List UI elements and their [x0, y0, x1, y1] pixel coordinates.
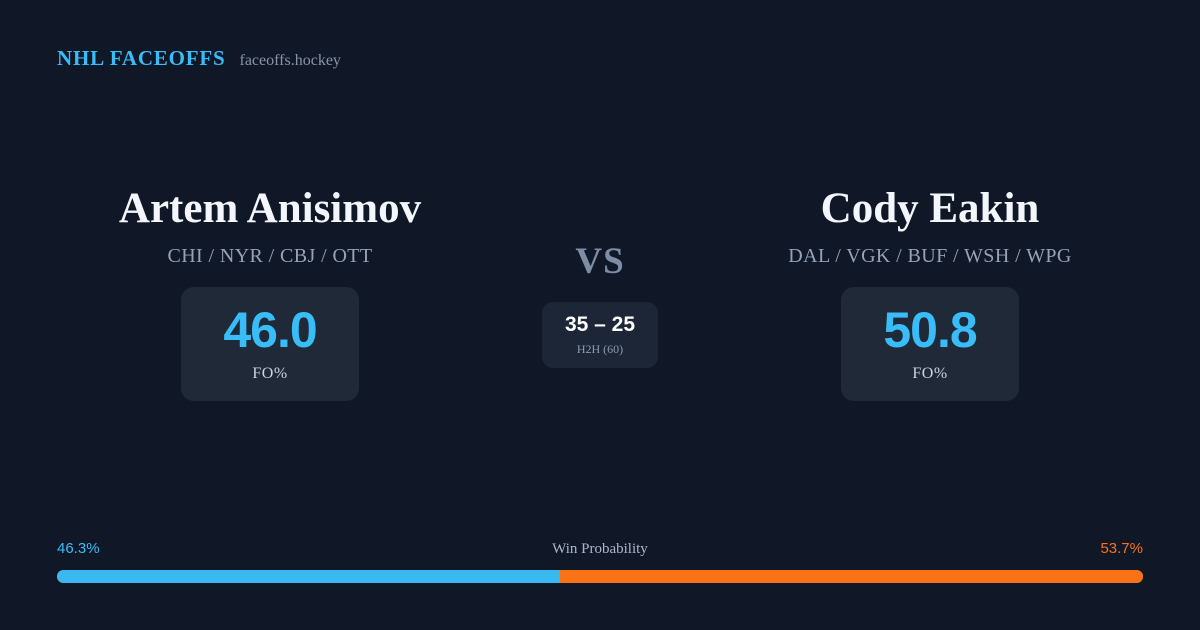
brand-title: NHL FACEOFFS: [57, 46, 225, 71]
win-probability-section: 46.3% Win Probability 53.7%: [57, 540, 1143, 583]
player-card-right: Cody Eakin DAL / VGK / BUF / WSH / WPG 5…: [700, 186, 1160, 401]
player-card-left: Artem Anisimov CHI / NYR / CBJ / OTT 46.…: [40, 186, 500, 401]
faceoff-percent-right: 50.8: [883, 305, 976, 355]
stat-label-left: FO%: [252, 365, 287, 383]
matchup-row: Artem Anisimov CHI / NYR / CBJ / OTT 46.…: [0, 186, 1200, 401]
win-probability-bar-right: [560, 570, 1143, 583]
win-probability-labels: 46.3% Win Probability 53.7%: [57, 540, 1143, 561]
win-probability-title: Win Probability: [57, 541, 1143, 558]
win-probability-right-value: 53.7%: [1100, 540, 1143, 557]
site-header: NHL FACEOFFS faceoffs.hockey: [57, 46, 341, 71]
faceoff-percent-left: 46.0: [223, 305, 316, 355]
player-teams-right: DAL / VGK / BUF / WSH / WPG: [788, 245, 1071, 268]
stat-card-right: 50.8 FO%: [841, 287, 1019, 401]
site-domain: faceoffs.hockey: [239, 52, 340, 70]
head-to-head-score: 35 – 25: [565, 314, 635, 335]
player-name-left: Artem Anisimov: [119, 186, 421, 231]
stat-label-right: FO%: [912, 365, 947, 383]
stat-card-left: 46.0 FO%: [181, 287, 359, 401]
win-probability-bar-left: [57, 570, 560, 583]
versus-label: VS: [575, 243, 624, 280]
versus-column: VS 35 – 25 H2H (60): [500, 186, 700, 368]
player-name-right: Cody Eakin: [821, 186, 1040, 231]
player-teams-left: CHI / NYR / CBJ / OTT: [167, 245, 372, 268]
win-probability-bar: [57, 570, 1143, 583]
head-to-head-box: 35 – 25 H2H (60): [542, 302, 658, 368]
head-to-head-label: H2H (60): [577, 342, 623, 357]
